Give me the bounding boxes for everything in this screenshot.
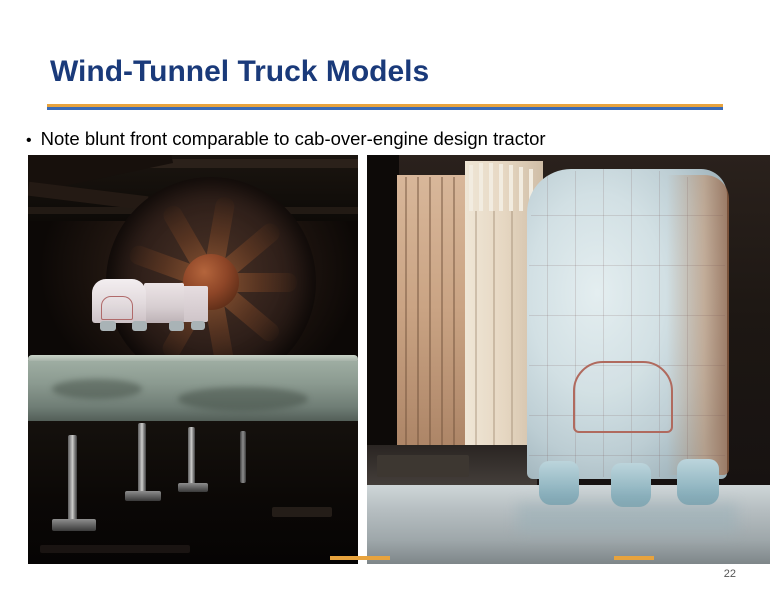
model-wheel	[611, 463, 651, 507]
support-post-base	[52, 519, 96, 531]
rear-model-body	[397, 175, 469, 465]
page-title: Wind-Tunnel Truck Models	[50, 55, 429, 89]
floor-slot	[377, 455, 469, 477]
cab-window-outline	[101, 296, 133, 320]
comb-tooth	[489, 163, 493, 211]
dark-backdrop	[367, 155, 399, 455]
wind-tunnel-test-section-photo	[28, 155, 358, 564]
trailer-box	[144, 283, 184, 323]
rib-line	[417, 177, 419, 463]
surface-grid-line	[529, 265, 725, 266]
comb-tooth	[509, 165, 513, 211]
surface-grid-line	[547, 175, 548, 475]
bullet-text: Note blunt front comparable to cab-over-…	[41, 128, 546, 150]
slide: Wind-Tunnel Truck Models • Note blunt fr…	[0, 0, 770, 590]
rib-line	[429, 177, 431, 463]
support-post	[138, 423, 146, 495]
model-wheel	[169, 321, 184, 331]
panel-line	[475, 211, 477, 461]
model-wheel	[539, 461, 579, 505]
surface-grid-line	[531, 215, 723, 216]
surface-grid-line	[529, 455, 725, 456]
floor-reflection	[517, 503, 737, 533]
model-wheel	[100, 321, 116, 331]
surface-grid-line	[687, 177, 688, 477]
comb-tooth	[519, 167, 523, 211]
title-divider	[47, 104, 723, 110]
support-post	[240, 431, 246, 483]
footer-accent-right	[614, 556, 654, 560]
floor-slot	[272, 507, 332, 517]
surface-grid-line	[529, 315, 725, 316]
support-post	[188, 427, 195, 487]
comb-tooth	[469, 165, 473, 211]
rib-line	[453, 177, 455, 463]
cab-window-outline	[573, 361, 673, 433]
bullet-item: • Note blunt front comparable to cab-ove…	[26, 128, 770, 150]
panel-line	[511, 211, 513, 461]
model-wheel	[677, 459, 719, 505]
model-wheel	[191, 321, 205, 330]
footer-accent-left	[330, 556, 390, 560]
comb-tooth	[499, 164, 503, 211]
model-wheel	[132, 321, 147, 331]
comb-tooth	[479, 163, 483, 211]
floor-slot	[40, 545, 190, 553]
floor-stain	[178, 387, 308, 411]
model-side-shading	[667, 175, 729, 475]
bullet-marker-icon: •	[26, 133, 32, 149]
rib-line	[405, 177, 407, 463]
support-post-base	[178, 483, 208, 492]
truck-models-closeup-photo	[367, 155, 770, 564]
divider-blue-line	[47, 107, 723, 110]
rib-line	[441, 177, 443, 463]
page-number: 22	[724, 568, 736, 580]
floor-stain	[52, 379, 142, 399]
trailer-rear-box	[182, 286, 208, 322]
panel-line	[493, 211, 495, 461]
support-post-base	[125, 491, 161, 501]
support-post	[68, 435, 77, 523]
